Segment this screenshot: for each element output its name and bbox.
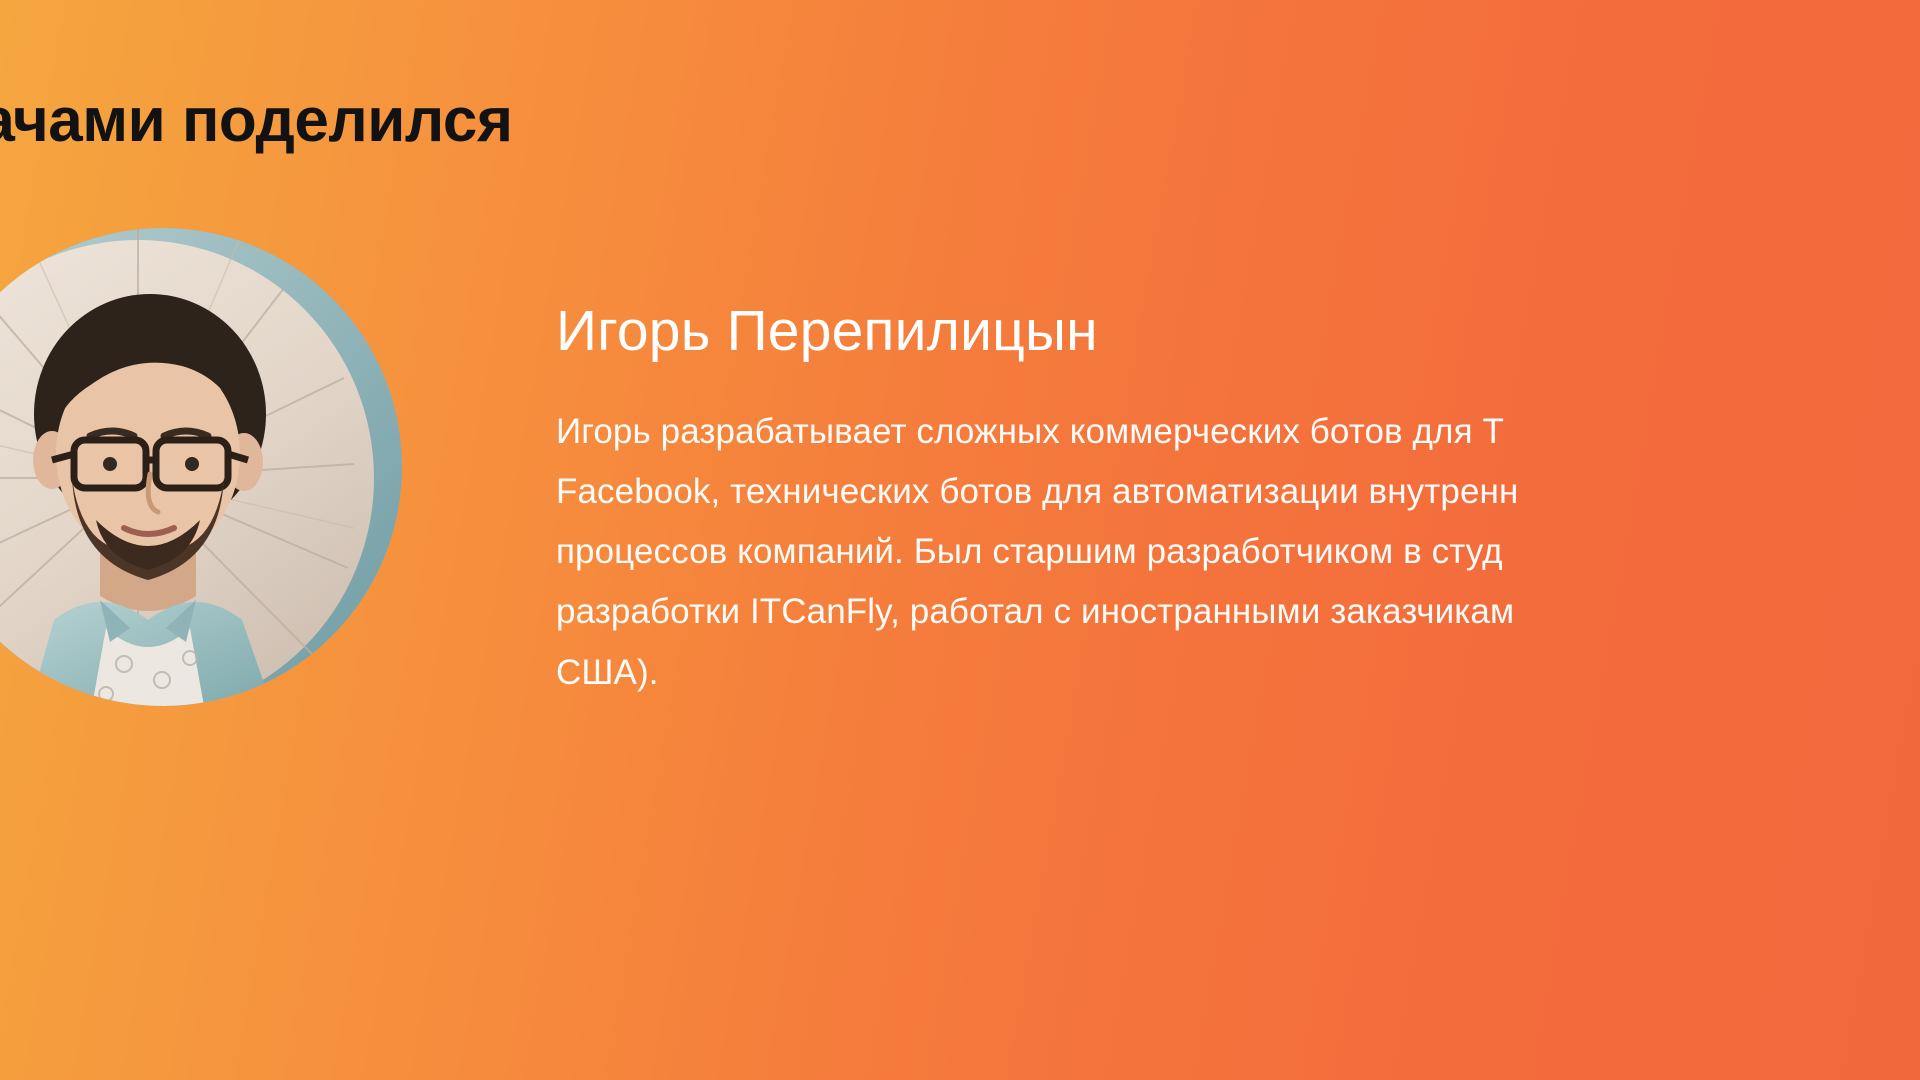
speaker-slide: …дачами поделился (0, 0, 1920, 1080)
speaker-name: Игорь Перепилицын (556, 300, 1920, 364)
bio-line: США). (556, 643, 1920, 703)
section-heading: …дачами поделился (0, 88, 1080, 153)
bio-line: Facebook, технических ботов для автомати… (556, 462, 1920, 522)
speaker-bio: Игорь разрабатывает сложных коммерческих… (556, 402, 1920, 703)
speaker-info: Игорь Перепилицын Игорь разрабатывает сл… (556, 300, 1920, 703)
bio-line: процессов компаний. Был старшим разработ… (556, 522, 1920, 582)
portrait-photo-icon (0, 228, 402, 706)
speaker-avatar (0, 228, 402, 706)
bio-line: Игорь разрабатывает сложных коммерческих… (556, 402, 1920, 462)
bio-line: разработки ITCanFly, работал с иностранн… (556, 582, 1920, 642)
